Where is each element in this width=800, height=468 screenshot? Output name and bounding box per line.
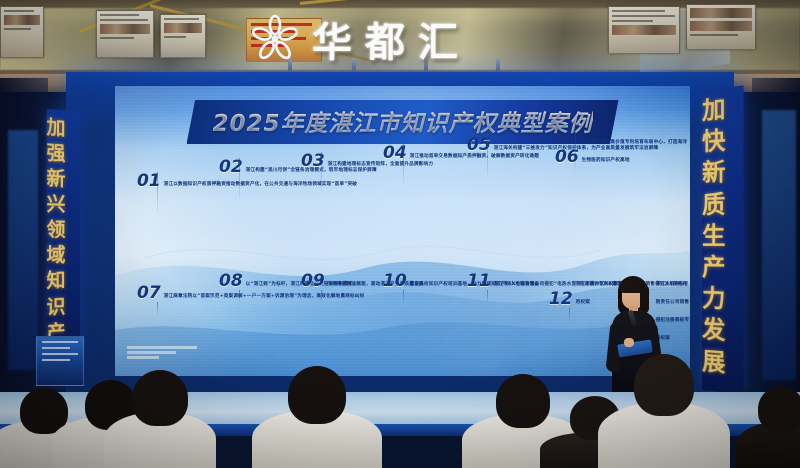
case-text: 政校联动建设高价值专利培育布局中心，打造海洋生物医药知识产权高地 xyxy=(582,140,687,163)
banner-left-text: 加强新兴领域知识产权 xyxy=(47,115,80,372)
mall-poster xyxy=(160,14,206,58)
page-title: 2025年度湛江市知识产权典型案例 xyxy=(212,111,592,137)
mall-poster xyxy=(608,6,680,54)
case-number: 07 xyxy=(137,285,161,302)
case-number: 11 xyxy=(467,273,491,290)
mall-poster xyxy=(96,10,154,58)
audience-head xyxy=(758,386,800,432)
flower-logo-icon xyxy=(250,14,300,64)
sign-post xyxy=(496,58,500,72)
mall-poster xyxy=(686,4,756,50)
audience-member xyxy=(736,390,800,468)
event-photo-scene: 华都汇 xyxy=(0,0,800,468)
audience-member xyxy=(104,376,216,468)
screen-corner-logo xyxy=(127,346,197,368)
mall-signage: 华都汇 xyxy=(250,10,471,68)
stage-side-panel-left xyxy=(8,130,38,370)
presenter-hair-side xyxy=(640,284,649,314)
ceiling-beam xyxy=(300,0,599,5)
mall-poster xyxy=(0,6,44,58)
audience-member xyxy=(598,358,730,468)
audience-head xyxy=(634,354,694,416)
audience-head xyxy=(288,366,346,424)
banner-right-text: 加快新质生产力发展 xyxy=(702,92,744,381)
case-number: 09 xyxy=(301,273,325,290)
case-item-06: 06 政校联动建设高价值专利培育布局中心，打造海洋生物医药知识产权高地 xyxy=(555,130,690,166)
case-text: 湛江以数据知识产权质押融资推动数据资产化，在公共交通与海洋牧场领域实现“首单”突… xyxy=(164,182,357,187)
case-text: 湛江构建地理标志宣传矩阵，全面提升品牌影响力 xyxy=(328,162,433,167)
case-number: 08 xyxy=(219,273,243,290)
case-text: 湛江麻章法院以“首案示范+类案调解+一户一方案+诉源治理”为理念，高效化解地重商… xyxy=(164,294,365,299)
audience-member xyxy=(252,372,382,468)
banner-right: 加快新质生产力发展 xyxy=(702,86,744,395)
audience-head xyxy=(132,370,188,426)
presenter-hand xyxy=(624,338,634,347)
stage-side-panel-right xyxy=(762,110,796,380)
case-number: 10 xyxy=(383,273,407,290)
mall-sign-text: 华都汇 xyxy=(312,10,471,68)
case-number: 12 xyxy=(549,291,573,308)
floor-standing-poster xyxy=(36,336,84,386)
mall-upper-level: 华都汇 xyxy=(0,0,800,78)
